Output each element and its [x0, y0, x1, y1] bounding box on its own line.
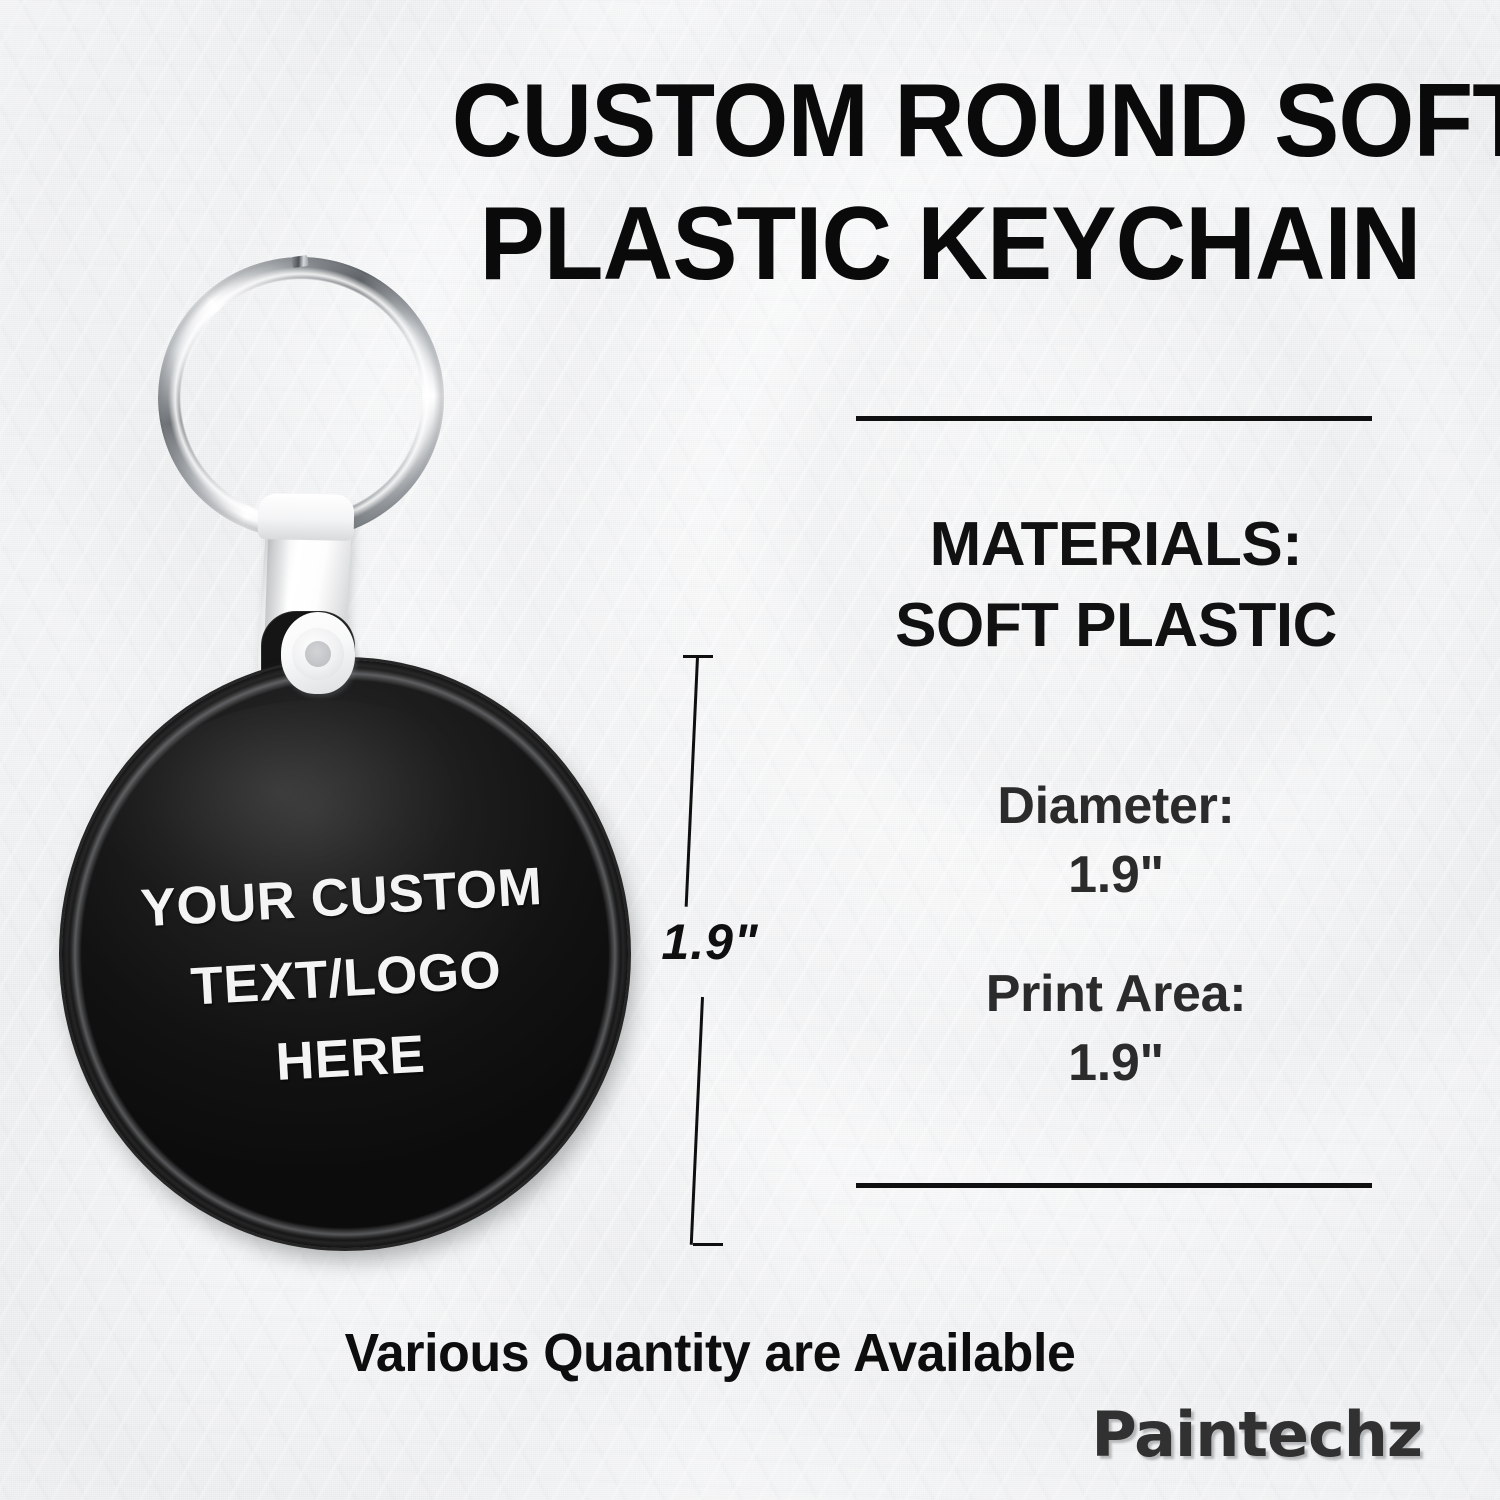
spec-print-area-label: Print Area:	[836, 960, 1396, 1029]
dimension-line-lower	[690, 997, 704, 1245]
plastic-strap-fold	[258, 493, 355, 541]
page-title-line-1: CUSTOM ROUND SOFT	[452, 60, 1448, 183]
materials-block: MATERIALS: SOFT PLASTIC	[836, 505, 1396, 666]
spec-diameter-label: Diameter:	[836, 772, 1396, 841]
grommet-hole	[305, 641, 331, 667]
quantity-note: Various Quantity are Available	[192, 1322, 1229, 1384]
page-title-line-2: PLASTIC KEYCHAIN	[452, 183, 1448, 306]
brand-logo: Paintechz	[1091, 1398, 1422, 1471]
materials-label: MATERIALS:	[836, 505, 1396, 586]
tag-custom-text: YOUR CUSTOM TEXT/LOGO HERE	[86, 844, 607, 1114]
spec-diameter: Diameter: 1.9"	[836, 772, 1396, 910]
spec-print-area-value: 1.9"	[836, 1029, 1396, 1098]
split-ring-seam	[291, 255, 308, 268]
divider-bottom	[856, 1183, 1372, 1188]
dimension-line-upper	[685, 657, 699, 907]
divider-top	[856, 416, 1372, 421]
materials-value: SOFT PLASTIC	[836, 586, 1396, 667]
dimension-label: 1.9"	[640, 913, 780, 971]
spec-print-area: Print Area: 1.9"	[836, 960, 1396, 1098]
dimension-cap-bottom	[693, 1243, 723, 1246]
product-infographic: CUSTOM ROUND SOFT PLASTIC KEYCHAIN YOUR …	[0, 0, 1500, 1500]
dimension-marker: 1.9"	[648, 645, 768, 1260]
spec-diameter-value: 1.9"	[836, 841, 1396, 910]
page-title: CUSTOM ROUND SOFT PLASTIC KEYCHAIN	[452, 60, 1448, 305]
